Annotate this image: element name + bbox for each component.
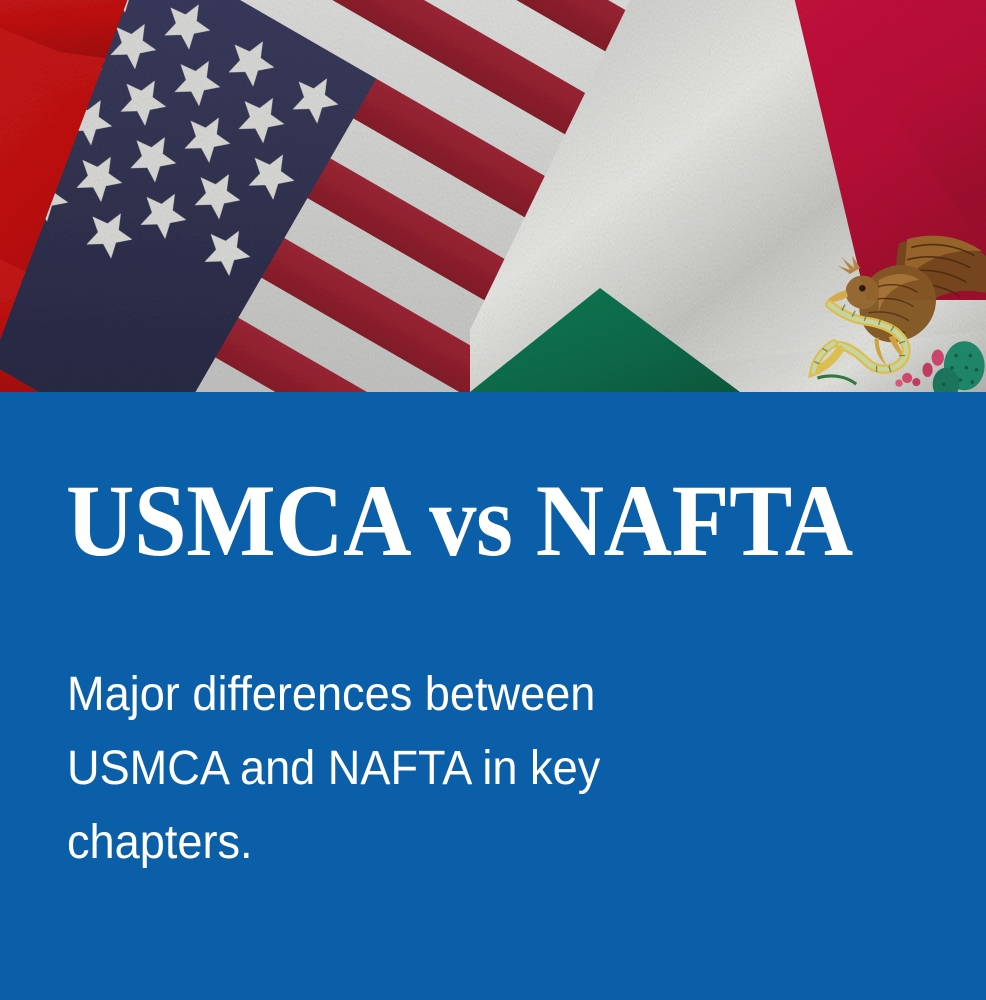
usmca-nafta-title-card: USMCA vs NAFTA Major differences between… [0,0,986,1000]
flags-hero-image [0,0,986,392]
flags-illustration [0,0,986,392]
page-title: USMCA vs NAFTA [66,470,876,573]
page-subtitle: Major differences between USMCA and NAFT… [67,658,725,880]
